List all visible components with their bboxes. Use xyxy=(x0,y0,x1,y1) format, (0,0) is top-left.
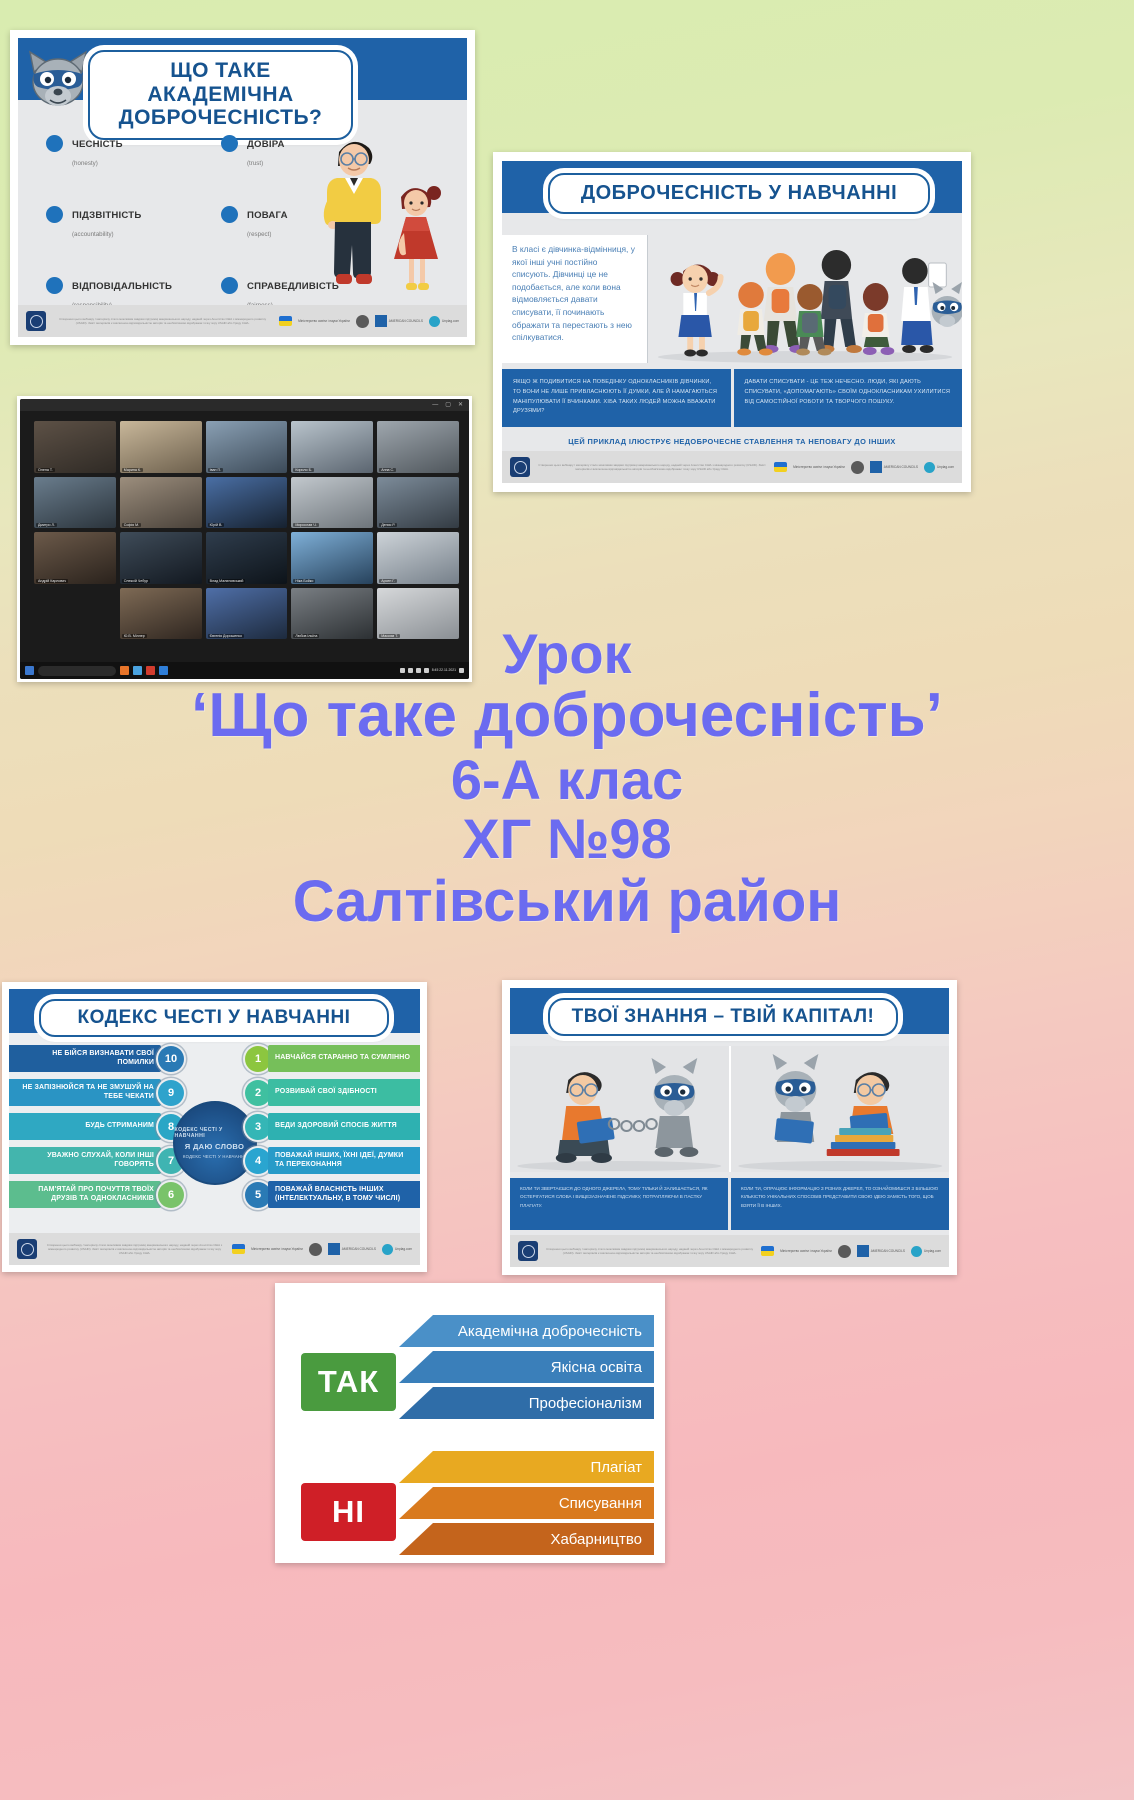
value-term: ПОВАГА xyxy=(247,210,288,221)
ministry-seal-icon xyxy=(26,311,46,331)
minimize-button[interactable]: — xyxy=(432,402,438,408)
american-councils-logo: AMERICAN COUNCILS xyxy=(857,1245,905,1257)
code-item: 3 ВЕДИ ЗДОРОВИЙ СПОСІБ ЖИТТЯ xyxy=(245,1113,420,1140)
unplag-logo: Unplag.com xyxy=(911,1246,941,1257)
code-item: БУДЬ СТРИМАНИМ 8 xyxy=(9,1113,184,1140)
boy-illustration xyxy=(317,126,389,301)
window-titlebar[interactable]: — ▢ ✕ xyxy=(20,399,469,411)
poster2-explanation-blocks: ЯКЩО Ж ПОДИВИТИСЯ НА ПОВЕДІНКУ ОДНОКЛАСН… xyxy=(502,369,962,427)
ukraine-flag-icon xyxy=(232,1244,245,1254)
participant-tile[interactable]: Денис Р. xyxy=(377,477,459,529)
participant-tile[interactable]: Анна С. xyxy=(377,421,459,473)
title-line-3: 6-А клас xyxy=(0,751,1134,808)
code-item-text: НАВЧАЙСЯ СТАРАННО ТА СУМЛІННО xyxy=(268,1045,420,1072)
code-item-text: ПАМ'ЯТАЙ ПРО ПОЧУТТЯ ТВОЇХ ДРУЗІВ ТА ОДН… xyxy=(9,1181,161,1208)
code-item-text: ВЕДИ ЗДОРОВИЙ СПОСІБ ЖИТТЯ xyxy=(268,1113,420,1140)
ministry-seal-icon xyxy=(510,457,530,477)
american-councils-logo: AMERICAN COUNCILS xyxy=(375,315,423,327)
participant-tile[interactable]: Олена Т. xyxy=(34,421,116,473)
code-item-number: 6 xyxy=(158,1182,184,1208)
yes-ribbon-item: Якісна освіта xyxy=(399,1351,654,1383)
code-item-text: РОЗВИВАЙ СВОЇ ЗДІБНОСТІ xyxy=(268,1079,420,1106)
classmates-scene xyxy=(648,235,962,363)
participant-tile[interactable]: Арсен Г. xyxy=(377,532,459,584)
value-term-english: (trust) xyxy=(247,160,263,167)
reading-student-illustration xyxy=(731,1046,950,1172)
unplag-mark-icon xyxy=(382,1244,393,1255)
value-item: ЧЕСНІСТЬ (honesty) xyxy=(46,134,211,170)
participant-tile[interactable]: Іван П. xyxy=(206,421,288,473)
code-item-text: ПОВАЖАЙ ВЛАСНІСТЬ ІНШИХ (ІНТЕЛЕКТУАЛЬНУ,… xyxy=(268,1181,420,1208)
american-councils-mark-icon xyxy=(857,1245,869,1257)
participant-tile[interactable]: Мирослав Ч. xyxy=(291,477,373,529)
poster4-footer-note: Створення цього вебінару / матеріалу ста… xyxy=(545,1247,754,1255)
poster2-footer-note: Створення цього вебінару / матеріалу ста… xyxy=(537,463,767,471)
us-embassy-seal-icon xyxy=(309,1243,322,1256)
american-councils-mark-icon xyxy=(870,461,882,473)
code-item: 5 ПОВАЖАЙ ВЛАСНІСТЬ ІНШИХ (ІНТЕЛЕКТУАЛЬН… xyxy=(245,1181,420,1208)
bullet-dot-icon xyxy=(221,277,238,294)
code-right-column: 1 НАВЧАЙСЯ СТАРАННО ТА СУМЛІННО 2 РОЗВИВ… xyxy=(245,1045,420,1208)
code-item: НЕ ЗАПІЗНЮЙСЯ ТА НЕ ЗМУШУЙ НА ТЕБЕ ЧЕКАТ… xyxy=(9,1079,184,1106)
honor-seal-icon: КОДЕКС ЧЕСТІ У НАВЧАННІ Я ДАЮ СЛОВО КОДЕ… xyxy=(173,1101,257,1185)
participant-tile[interactable]: Дмитро Л. xyxy=(34,477,116,529)
poster1-footer-note: Створення цього вебінару / матеріалу ста… xyxy=(53,317,272,325)
poster1-body: ЩО ТАКЕ АКАДЕМІЧНА ДОБРОЧЕСНІСТЬ? ЧЕСНІС… xyxy=(18,38,467,337)
poster4-footer: Створення цього вебінару / матеріалу ста… xyxy=(510,1235,949,1267)
american-councils-mark-icon xyxy=(375,315,387,327)
poster5-body: ТАК Академічна доброчесність Якісна осві… xyxy=(285,1293,655,1553)
no-ribbon-item: Списування xyxy=(399,1487,654,1519)
value-term: ПІДЗВІТНІСТЬ xyxy=(72,210,141,221)
code-item: 4 ПОВАЖАЙ ІНШИХ, ЇХНІ ІДЕЇ, ДУМКИ ТА ПЕР… xyxy=(245,1147,420,1174)
no-ribbon-item: Хабарництво xyxy=(399,1523,654,1555)
poster1-logo-row: Міністерство освіти і науки України AMER… xyxy=(279,315,459,328)
poster1-footer: Створення цього вебінару / матеріалу ста… xyxy=(18,305,467,337)
yes-ribbon-item: Академічна доброчесність xyxy=(399,1315,654,1347)
participant-tile[interactable]: Марина К. xyxy=(120,421,202,473)
poster3-body: КОДЕКС ЧЕСТІ У НАВЧАННІ НЕ БІЙСЯ ВИЗНАВА… xyxy=(9,989,420,1265)
bullet-dot-icon xyxy=(46,206,63,223)
code-of-honor-diagram: НЕ БІЙСЯ ВИЗНАВАТИ СВОЇ ПОМИЛКИ 10 НЕ ЗА… xyxy=(9,1045,420,1225)
ministry-seal-icon xyxy=(17,1239,37,1259)
code-item-text: БУДЬ СТРИМАНИМ xyxy=(9,1113,161,1140)
seal-center-text: Я ДАЮ СЛОВО xyxy=(185,1142,244,1151)
participant-tile[interactable]: Софія М. xyxy=(120,477,202,529)
yes-badge: ТАК xyxy=(301,1353,396,1411)
poster-code-of-honor: КОДЕКС ЧЕСТІ У НАВЧАННІ НЕ БІЙСЯ ВИЗНАВА… xyxy=(2,982,427,1272)
poster1-title: ЩО ТАКЕ АКАДЕМІЧНА ДОБРОЧЕСНІСТЬ? xyxy=(88,50,353,140)
bullet-dot-icon xyxy=(46,277,63,294)
code-item: УВАЖНО СЛУХАЙ, КОЛИ ІНШІ ГОВОРЯТЬ 7 xyxy=(9,1147,184,1174)
value-term: ДОВІРА xyxy=(247,139,285,150)
bullet-dot-icon xyxy=(46,135,63,152)
value-term: ВІДПОВІДАЛЬНІСТЬ xyxy=(72,281,172,292)
title-line-1: Урок xyxy=(0,625,1134,682)
slide-canvas: ЩО ТАКЕ АКАДЕМІЧНА ДОБРОЧЕСНІСТЬ? ЧЕСНІС… xyxy=(0,0,1134,1800)
american-councils-logo: AMERICAN COUNCILS xyxy=(328,1243,376,1255)
yes-ribbons: Академічна доброчесність Якісна освіта П… xyxy=(399,1315,654,1423)
poster-yes-no: ТАК Академічна доброчесність Якісна осві… xyxy=(275,1283,665,1563)
code-item-number: 9 xyxy=(158,1080,184,1106)
bullet-dot-icon xyxy=(221,206,238,223)
poster4-block-left: КОЛИ ТИ ЗВЕРТАЄШСЯ ДО ОДНОГО ДЖЕРЕЛА, ТО… xyxy=(510,1178,728,1230)
code-item-text: НЕ БІЙСЯ ВИЗНАВАТИ СВОЇ ПОМИЛКИ xyxy=(9,1045,161,1072)
value-item: ПІДЗВІТНІСТЬ (accountability) xyxy=(46,205,211,241)
value-term-english: (honesty) xyxy=(72,160,98,167)
code-item-number: 10 xyxy=(158,1046,184,1072)
code-left-column: НЕ БІЙСЯ ВИЗНАВАТИ СВОЇ ПОМИЛКИ 10 НЕ ЗА… xyxy=(9,1045,184,1208)
code-item-text: УВАЖНО СЛУХАЙ, КОЛИ ІНШІ ГОВОРЯТЬ xyxy=(9,1147,161,1174)
poster4-logo-row: Міністерство освіти і науки України AMER… xyxy=(761,1245,941,1258)
poster2-middle: В класі є дівчинка-відмінниця, у якої ін… xyxy=(502,235,962,363)
no-badge: НІ xyxy=(301,1483,396,1541)
ministry-label: Міністерство освіти і науки України xyxy=(298,319,350,323)
participant-tile[interactable]: Юрій В. xyxy=(206,477,288,529)
poster2-conclusion: ЦЕЙ ПРИКЛАД ІЛЮСТРУЄ НЕДОБРОЧЕСНЕ СТАВЛЕ… xyxy=(502,431,962,451)
code-item: 1 НАВЧАЙСЯ СТАРАННО ТА СУМЛІННО xyxy=(245,1045,420,1072)
participant-grid: Олена Т. Марина К. Іван П. Кирило Б. Анн… xyxy=(34,421,459,639)
ukraine-flag-icon xyxy=(279,316,292,326)
girl-illustration xyxy=(389,173,445,301)
poster-integrity-in-learning: ДОБРОЧЕСНІСТЬ У НАВЧАННІ В класі є дівчи… xyxy=(493,152,971,492)
seal-top-text: КОДЕКС ЧЕСТІ У НАВЧАННІ xyxy=(175,1127,255,1139)
poster4-title: ТВОЇ ЗНАННЯ – ТВІЙ КАПІТАЛ! xyxy=(548,998,898,1036)
value-term: ЧЕСНІСТЬ xyxy=(72,139,123,150)
title-line-5: Салтівський район xyxy=(0,872,1134,931)
title-line-2: ʻЩо таке доброчесністьʼ xyxy=(0,684,1134,747)
american-councils-logo: AMERICAN COUNCILS xyxy=(870,461,918,473)
poster2-block-left: ЯКЩО Ж ПОДИВИТИСЯ НА ПОВЕДІНКУ ОДНОКЛАСН… xyxy=(502,369,731,427)
poster4-scene-right xyxy=(729,1046,950,1172)
ukraine-flag-icon xyxy=(761,1246,774,1256)
unplag-logo: Unplag.com xyxy=(429,316,459,327)
poster4-body: ТВОЇ ЗНАННЯ – ТВІЙ КАПІТАЛ! xyxy=(510,988,949,1267)
chained-student-illustration xyxy=(510,1046,729,1172)
poster3-footer: Створення цього вебінару / матеріалу ста… xyxy=(9,1233,420,1265)
ukraine-flag-icon xyxy=(774,462,787,472)
participant-tile[interactable]: Ніка Бойко xyxy=(291,532,373,584)
poster4-block-right: КОЛИ ТИ, ОПРАЦЮЄ ІНФОРМАЦІЮ З РІЗНИХ ДЖЕ… xyxy=(731,1178,949,1230)
participant-tile[interactable]: Андрій Карлович xyxy=(34,532,116,584)
poster2-story-text: В класі є дівчинка-відмінниця, у якої ін… xyxy=(502,235,647,363)
poster-what-is-academic-integrity: ЩО ТАКЕ АКАДЕМІЧНА ДОБРОЧЕСНІСТЬ? ЧЕСНІС… xyxy=(10,30,475,345)
unplag-mark-icon xyxy=(924,462,935,473)
us-embassy-seal-icon xyxy=(851,461,864,474)
unplag-logo: Unplag.com xyxy=(924,462,954,473)
participant-tile[interactable]: Кирило Б. xyxy=(291,421,373,473)
value-term-english: (accountability) xyxy=(72,231,114,238)
code-item: НЕ БІЙСЯ ВИЗНАВАТИ СВОЇ ПОМИЛКИ 10 xyxy=(9,1045,184,1072)
poster4-scene-left xyxy=(510,1046,729,1172)
code-item: 2 РОЗВИВАЙ СВОЇ ЗДІБНОСТІ xyxy=(245,1079,420,1106)
participant-tile[interactable]: Влад Малиновський xyxy=(206,532,288,584)
poster4-explanation-blocks: КОЛИ ТИ ЗВЕРТАЄШСЯ ДО ОДНОГО ДЖЕРЕЛА, ТО… xyxy=(510,1178,949,1230)
poster3-footer-note: Створення цього вебінару / матеріалу ста… xyxy=(44,1243,225,1256)
value-term-english: (respect) xyxy=(247,231,271,238)
bullet-dot-icon xyxy=(221,135,238,152)
american-councils-mark-icon xyxy=(328,1243,340,1255)
no-ribbon-item: Плагіат xyxy=(399,1451,654,1483)
seal-bottom-text: КОДЕКС ЧЕСТІ У НАВЧАННІ xyxy=(183,1154,246,1159)
participant-tile[interactable]: Олексій Чебур xyxy=(120,532,202,584)
unplag-logo: Unplag.com xyxy=(382,1244,412,1255)
ministry-seal-icon xyxy=(518,1241,538,1261)
poster3-logo-row: Міністерство освіти і науки України AMER… xyxy=(232,1243,412,1256)
close-button[interactable]: ✕ xyxy=(458,402,463,408)
unplag-mark-icon xyxy=(911,1246,922,1257)
poster2-footer: Створення цього вебінару / матеріалу ста… xyxy=(502,451,962,483)
poster2-body: ДОБРОЧЕСНІСТЬ У НАВЧАННІ В класі є дівчи… xyxy=(502,161,962,483)
no-ribbons: Плагіат Списування Хабарництво xyxy=(399,1451,654,1559)
code-item-text: ПОВАЖАЙ ІНШИХ, ЇХНІ ІДЕЇ, ДУМКИ ТА ПЕРЕК… xyxy=(268,1147,420,1174)
poster3-title: КОДЕКС ЧЕСТІ У НАВЧАННІ xyxy=(39,999,389,1037)
poster2-block-right: ДАВАТИ СПИСУВАТИ - ЦЕ ТЕЖ НЕЧЕСНО. ЛЮДИ,… xyxy=(734,369,963,427)
us-embassy-seal-icon xyxy=(838,1245,851,1258)
poster2-logo-row: Міністерство освіти і науки України AMER… xyxy=(774,461,954,474)
yes-ribbon-item: Професіоналізм xyxy=(399,1387,654,1419)
code-item-text: НЕ ЗАПІЗНЮЙСЯ ТА НЕ ЗМУШУЙ НА ТЕБЕ ЧЕКАТ… xyxy=(9,1079,161,1106)
wolf-mascot-icon xyxy=(26,46,92,118)
poster-knowledge-is-capital: ТВОЇ ЗНАННЯ – ТВІЙ КАПІТАЛ! xyxy=(502,980,957,1275)
poster2-scene-illustration xyxy=(647,235,962,363)
title-line-4: ХГ №98 xyxy=(0,810,1134,867)
poster2-title: ДОБРОЧЕСНІСТЬ У НАВЧАННІ xyxy=(548,173,930,214)
maximize-button[interactable]: ▢ xyxy=(445,402,451,408)
code-item: ПАМ'ЯТАЙ ПРО ПОЧУТТЯ ТВОЇХ ДРУЗІВ ТА ОДН… xyxy=(9,1181,184,1208)
unplag-mark-icon xyxy=(429,316,440,327)
us-embassy-seal-icon xyxy=(356,315,369,328)
slide-title-block: Урок ʻЩо таке доброчесністьʼ 6-А клас ХГ… xyxy=(0,625,1134,931)
poster4-scene xyxy=(510,1046,949,1172)
